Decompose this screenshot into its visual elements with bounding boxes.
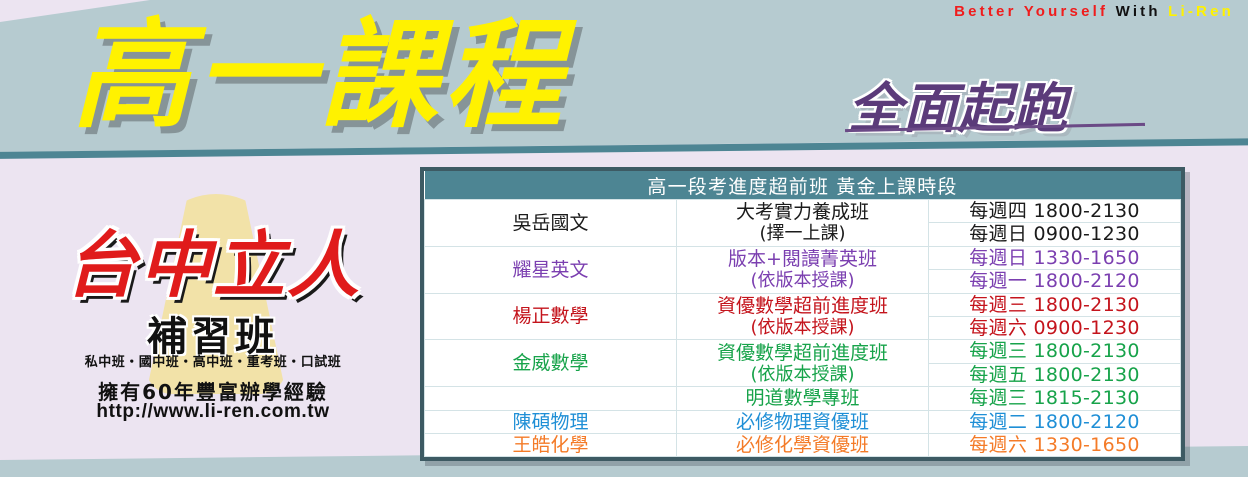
time-slot-cell: 每週三 1800-2130 <box>929 340 1181 363</box>
time-slot-cell: 每週五 1800-2130 <box>929 363 1181 386</box>
time-slot-cell: 每週日 1330-1650 <box>929 246 1181 269</box>
schedule-table-header: 高一段考進度超前班 黃金上課時段 <box>425 171 1181 200</box>
table-row: 王皓化學必修化學資優班每週六 1330-1650 <box>425 434 1181 457</box>
time-slot-cell: 每週四 1800-2130 <box>929 200 1181 223</box>
course-cell: 資優數學超前進度班(依版本授課) <box>677 340 929 387</box>
course-name: 資優數學超前進度班 <box>717 342 888 364</box>
course-name: 版本+閱讀菁英班 <box>728 248 877 270</box>
teacher-cell: 耀星英文 <box>425 246 677 293</box>
tagline-part-yellow: Li-Ren <box>1168 3 1234 20</box>
course-name: 大考實力養成班 <box>736 201 869 223</box>
time-slot-cell: 每週三 1800-2130 <box>929 293 1181 316</box>
table-row: 陳碩物理必修物理資優班每週二 1800-2120 <box>425 410 1181 433</box>
course-cell: 明道數學專班 <box>677 387 929 410</box>
teacher-cell: 楊正數學 <box>425 293 677 340</box>
course-name: 必修物理資優班 <box>736 411 869 433</box>
time-slot-cell: 每週六 0900-1230 <box>929 317 1181 340</box>
time-slot-cell: 每週日 0900-1230 <box>929 223 1181 246</box>
course-name: 必修化學資優班 <box>736 434 869 456</box>
table-row: 明道數學專班每週三 1815-2130 <box>425 387 1181 410</box>
teacher-cell: 王皓化學 <box>425 434 677 457</box>
tagline-part-red: Better Yourself <box>954 3 1108 20</box>
teacher-cell: 吳岳國文 <box>425 200 677 247</box>
logo-class-list: 私中班・國中班・高中班・重考班・口試班 <box>18 351 408 370</box>
brand-logo: 台中立人 補習班 私中班・國中班・高中班・重考班・口試班 擁有60年豐富辦學經驗… <box>18 196 408 416</box>
logo-website-url[interactable]: http://www.li-ren.com.tw <box>18 401 408 423</box>
page-title: 高一課程 <box>72 15 568 135</box>
course-note: (依版本授課) <box>679 317 926 338</box>
table-row: 金威數學資優數學超前進度班(依版本授課)每週三 1800-2130 <box>425 340 1181 363</box>
schedule-table: 高一段考進度超前班 黃金上課時段 吳岳國文大考實力養成班(擇一上課)每週四 18… <box>424 171 1181 457</box>
course-cell: 必修物理資優班 <box>677 410 929 433</box>
time-slot-cell: 每週三 1815-2130 <box>929 387 1181 410</box>
course-cell: 版本+閱讀菁英班(依版本授課) <box>677 246 929 293</box>
course-name: 資優數學超前進度班 <box>717 295 888 317</box>
table-row: 楊正數學資優數學超前進度班(依版本授課)每週三 1800-2130 <box>425 293 1181 316</box>
logo-name: 台中立人 <box>28 206 398 311</box>
teacher-cell: 金威數學 <box>425 340 677 387</box>
tagline-part-black: With <box>1116 3 1161 20</box>
teacher-cell <box>425 387 677 410</box>
time-slot-cell: 每週六 1330-1650 <box>929 434 1181 457</box>
table-row: 吳岳國文大考實力養成班(擇一上課)每週四 1800-2130 <box>425 200 1181 223</box>
course-cell: 必修化學資優班 <box>677 434 929 457</box>
course-note: (依版本授課) <box>679 270 926 291</box>
schedule-table-body: 吳岳國文大考實力養成班(擇一上課)每週四 1800-2130每週日 0900-1… <box>425 200 1181 457</box>
teacher-cell: 陳碩物理 <box>425 410 677 433</box>
time-slot-cell: 每週二 1800-2120 <box>929 410 1181 433</box>
course-name: 明道數學專班 <box>745 387 859 409</box>
course-note: (擇一上課) <box>679 223 926 244</box>
course-cell: 資優數學超前進度班(依版本授課) <box>677 293 929 340</box>
table-row: 耀星英文版本+閱讀菁英班(依版本授課)每週日 1330-1650 <box>425 246 1181 269</box>
time-slot-cell: 每週一 1800-2120 <box>929 270 1181 293</box>
course-cell: 大考實力養成班(擇一上課) <box>677 200 929 247</box>
schedule-table-container: 高一段考進度超前班 黃金上課時段 吳岳國文大考實力養成班(擇一上課)每週四 18… <box>420 167 1185 461</box>
course-note: (依版本授課) <box>679 364 926 385</box>
poster-canvas: Better Yourself With Li-Ren 高一課程 全面起跑 台中… <box>0 0 1248 477</box>
tagline: Better Yourself With Li-Ren <box>954 3 1234 20</box>
